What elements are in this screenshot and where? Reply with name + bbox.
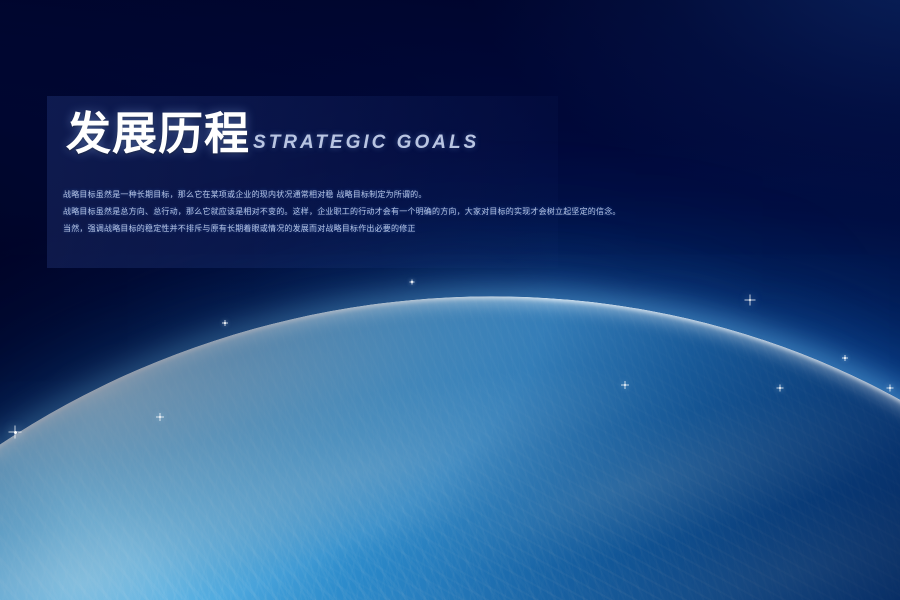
page-title: 发展历程 <box>66 112 250 157</box>
body-line: 战略目标虽然是一种长期目标，那么它在某项或企业的现内状况通常相对稳 战略目标制定… <box>63 186 743 203</box>
banner-body-copy: 战略目标虽然是一种长期目标，那么它在某项或企业的现内状况通常相对稳 战略目标制定… <box>63 186 743 237</box>
page-subtitle: STRATEGIC GOALS <box>253 132 479 157</box>
banner-heading: 发展历程 STRATEGIC GOALS <box>66 112 479 157</box>
body-line: 当然，强调战略目标的稳定性并不排斥与原有长期着眼或情况的发展而对战略目标作出必要… <box>63 220 743 237</box>
left-vignette <box>0 0 900 600</box>
body-line: 战略目标虽然是总方向、总行动，那么它就应该是相对不变的。这样，企业职工的行动才会… <box>63 203 743 220</box>
banner-stage: 发展历程 STRATEGIC GOALS 战略目标虽然是一种长期目标，那么它在某… <box>0 0 900 600</box>
